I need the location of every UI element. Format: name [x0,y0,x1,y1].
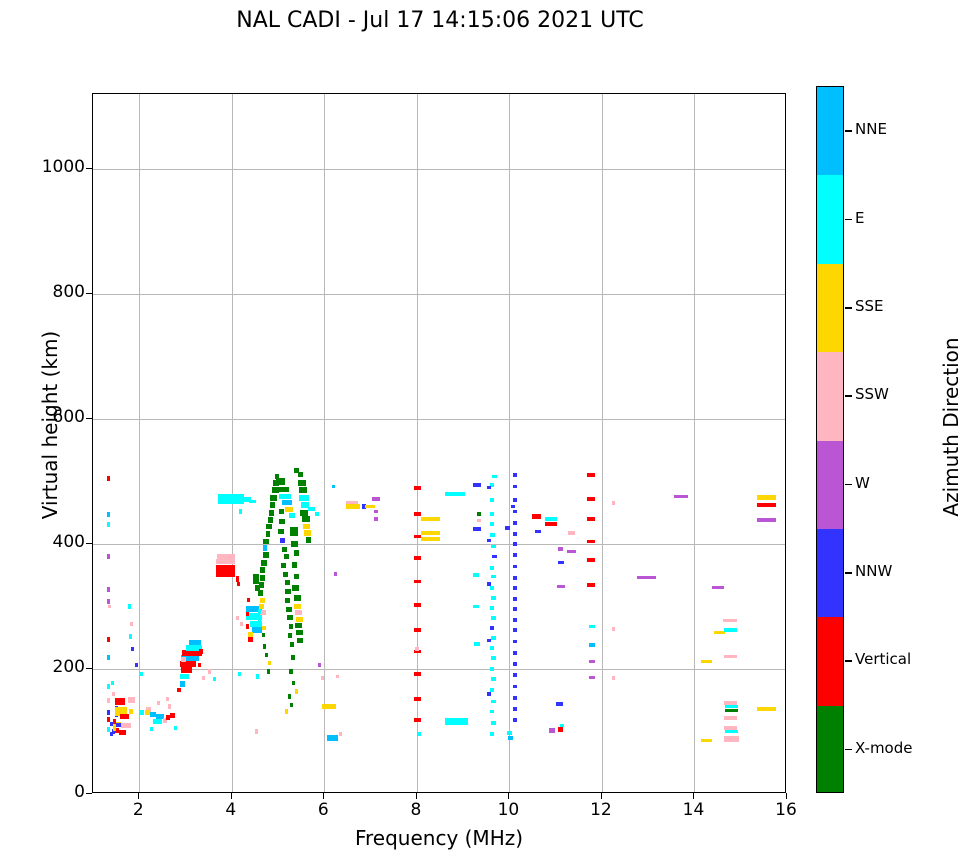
echo-point [490,646,495,650]
echo-point [490,606,495,610]
colorbar-label-nne: NNE [855,120,887,138]
echo-point [336,675,339,679]
echo-point [128,604,131,608]
gridline-vertical [232,94,233,792]
echo-point [278,529,284,534]
colorbar-tick-mark [845,749,852,751]
echo-point [558,561,564,564]
colorbar-tick-mark [845,572,852,574]
y-tick-mark [86,418,92,419]
echo-point [238,672,241,676]
echo-point [473,527,480,531]
echo-point [107,587,110,592]
echo-point [121,723,131,728]
y-tick-label: 0 [0,782,85,802]
echo-point [246,624,249,628]
echo-point [285,598,290,603]
echo-point [414,603,421,607]
echo-point [112,692,115,696]
echo-point [120,714,129,719]
echo-point [490,522,495,526]
echo-point [291,541,298,547]
echo-point [216,559,235,565]
echo-point [268,517,274,523]
x-tick-mark [693,793,694,799]
echo-point [414,556,421,560]
echo-point [302,516,310,522]
gridline-horizontal [93,294,785,295]
echo-point [256,674,259,678]
gridline-vertical [324,94,325,792]
echo-point [180,674,188,680]
echo-point [757,503,776,507]
echo-point [260,567,265,573]
colorbar-label-x-mode: X-mode [855,739,912,757]
echo-point [589,643,595,647]
echo-point [513,685,518,689]
echo-point [417,732,421,736]
x-tick-label: 14 [663,800,723,820]
echo-point [199,649,203,654]
gridline-horizontal [93,169,785,170]
x-tick-label: 12 [571,800,631,820]
echo-point [487,486,491,489]
echo-point [568,531,575,535]
echo-point [491,656,496,660]
echo-point [295,623,301,628]
echo-point [288,694,291,698]
echo-point [236,616,239,620]
colorbar-label-e: E [855,209,864,227]
x-tick-label: 16 [756,800,816,820]
echo-point [612,501,615,505]
echo-point [365,505,375,509]
echo-point [587,473,594,477]
echo-point [477,519,482,522]
echo-point [276,478,285,484]
echo-point [491,545,496,549]
echo-point [490,586,495,590]
gridline-vertical [694,94,695,792]
echo-point [216,571,235,577]
echo-point [725,709,739,712]
echo-point [135,663,138,667]
x-tick-label: 6 [293,800,353,820]
echo-point [487,582,491,585]
echo-point [282,500,292,505]
echo-point [308,507,314,511]
echo-point [263,539,269,545]
echo-point [263,545,268,551]
echo-point [724,655,738,658]
echo-point [589,625,595,628]
echo-point [202,676,205,680]
echo-point [170,713,175,718]
y-tick-mark [86,293,92,294]
echo-point [268,661,271,665]
echo-point [612,676,615,680]
echo-point [107,655,110,660]
y-tick-label: 200 [0,657,85,677]
echo-point [292,681,295,685]
echo-point [189,640,201,645]
echo-point [346,501,358,504]
echo-point [725,730,739,733]
colorbar-tick-mark [845,219,852,221]
echo-point [473,573,479,577]
colorbar-swatch-w[interactable] [817,441,843,529]
echo-point [285,709,288,713]
echo-point [513,565,518,569]
echo-point [111,681,114,685]
colorbar-swatch-e[interactable] [817,175,843,263]
echo-point [258,590,264,596]
echo-point [491,616,496,620]
echo-point [287,615,293,620]
echo-point [278,487,289,492]
echo-point [513,542,518,546]
echo-point [587,540,594,544]
echo-point [535,530,541,534]
echo-point [113,727,116,731]
echo-point [513,521,518,525]
echo-point [513,696,518,700]
echo-point [415,647,420,651]
colorbar-title: Azimuth Direction [939,247,958,607]
gridline-horizontal [93,669,785,670]
echo-point [414,718,421,722]
echo-point [558,727,563,732]
echo-point [128,697,134,703]
echo-point [270,495,276,501]
x-tick-mark [231,793,232,799]
echo-point [513,576,518,580]
echo-point [560,724,564,727]
echo-point [513,607,518,611]
echo-point [166,697,169,701]
colorbar-label-sse: SSE [855,297,884,315]
echo-point [248,637,253,642]
echo-point [637,576,656,579]
echo-point [294,595,300,601]
echo-point [285,507,293,512]
echo-point [491,596,496,600]
echo-point [297,638,303,643]
echo-point [300,510,308,516]
echo-point [216,565,235,571]
echo-point [108,605,111,609]
echo-point [490,512,495,516]
echo-point [237,582,240,586]
echo-point [492,555,497,559]
echo-point [107,637,110,642]
ionogram-figure: NAL CADI - Jul 17 14:15:06 2021 UTC 2468… [0,0,958,857]
x-tick-label: 4 [201,800,261,820]
echo-point [266,531,271,537]
x-axis-label: Frequency (MHz) [92,826,786,850]
echo-point [119,730,126,735]
echo-point [587,497,594,501]
echo-point [513,640,518,644]
echo-point [290,642,295,647]
echo-point [414,697,421,701]
echo-point [260,598,265,603]
echo-point [279,494,291,499]
echo-point [513,485,518,489]
gridline-vertical [509,94,510,792]
echo-point [240,622,243,626]
echo-point [421,531,440,535]
echo-point [110,722,113,726]
echo-point [217,554,235,558]
echo-point [724,736,739,743]
echo-point [270,502,276,508]
echo-point [491,677,496,681]
echo-point [181,667,193,673]
echo-point [262,633,265,637]
echo-point [286,607,292,612]
echo-point [292,562,298,568]
echo-point [474,642,480,646]
echo-point [473,605,479,609]
echo-point [757,495,776,500]
colorbar-tick-mark [845,395,852,397]
echo-point [110,732,113,736]
x-tick-mark [138,793,139,799]
echo-point [283,572,288,577]
echo-point [487,692,491,695]
colorbar[interactable] [816,86,844,793]
echo-point [414,535,421,539]
echo-point [262,626,266,630]
echo-point [295,689,298,693]
echo-point [473,483,480,487]
echo-point [414,672,421,676]
colorbar-swatch-sse[interactable] [817,264,843,352]
echo-point [587,517,594,521]
colorbar-swatch-x-mode[interactable] [817,706,843,793]
echo-point [291,655,295,660]
echo-point [513,586,518,590]
echo-point [296,630,302,635]
echo-point [247,598,250,602]
echo-point [558,547,564,550]
echo-point [115,698,125,704]
echo-point [255,585,260,591]
echo-point [414,580,421,584]
echo-point [150,727,153,731]
echo-point [292,585,298,591]
echo-point [723,619,737,622]
echo-point [612,627,615,631]
echo-point [701,660,712,663]
echo-point [556,702,563,705]
echo-point [757,518,776,522]
colorbar-tick-mark [845,484,852,486]
echo-point [414,486,421,490]
x-tick-label: 8 [386,800,446,820]
x-tick-label: 2 [108,800,168,820]
echo-point [545,522,557,526]
echo-point [107,512,110,517]
echo-point [304,530,310,536]
echo-point [725,705,739,708]
echo-point [315,512,320,516]
echo-point [129,709,134,714]
echo-point [265,653,268,657]
echo-point [513,662,518,666]
echo-point [299,487,307,493]
echo-point [281,563,287,568]
echo-point [513,498,518,502]
echo-point [131,647,134,651]
echo-point [513,718,518,722]
echo-point [130,622,133,626]
plot-area[interactable] [92,93,786,793]
echo-point [421,517,440,521]
echo-point [491,575,496,579]
echo-point [487,539,491,542]
echo-point [318,663,321,667]
echo-point [166,715,170,720]
echo-point [589,660,595,663]
echo-point [513,618,518,622]
echo-point [490,667,495,671]
echo-point [490,710,495,714]
gridline-horizontal [93,544,785,545]
echo-point [267,669,270,673]
echo-point [490,533,495,537]
echo-point [107,554,110,559]
echo-point [508,736,513,740]
x-tick-mark [601,793,602,799]
echo-point [334,572,337,576]
echo-point [712,586,724,589]
echo-point [140,672,143,676]
echo-point [490,498,495,502]
echo-point [266,524,272,530]
echo-point [294,550,300,556]
echo-point [724,716,738,720]
echo-point [513,532,518,536]
echo-point [107,476,110,481]
echo-point [587,558,594,562]
echo-point [545,517,557,521]
echo-point [285,580,291,585]
echo-point [284,554,289,559]
x-tick-label: 10 [478,800,538,820]
echo-point [198,663,201,667]
echo-point [239,509,242,513]
echo-point [372,497,379,500]
y-tick-mark [86,793,92,794]
echo-point [107,710,110,715]
colorbar-swatch-ssw[interactable] [817,352,843,440]
x-tick-mark [323,793,324,799]
echo-point [303,524,310,530]
echo-point [107,684,110,689]
echo-point [507,731,512,735]
echo-point [374,510,378,513]
colorbar-tick-mark [845,130,852,132]
echo-point [174,726,177,730]
echo-point [549,728,555,733]
y-tick-mark [86,168,92,169]
echo-canvas [93,94,785,792]
echo-point [513,473,518,477]
echo-point [181,657,186,663]
colorbar-label-nnw: NNW [855,562,892,580]
page-title: NAL CADI - Jul 17 14:15:06 2021 UTC [0,8,880,33]
echo-point [587,583,594,587]
colorbar-tick-mark [845,660,852,662]
colorbar-label-ssw: SSW [855,385,889,403]
echo-point [260,575,265,581]
gridline-vertical [417,94,418,792]
echo-point [490,566,495,570]
echo-point [306,537,312,543]
echo-point [724,628,737,632]
echo-point [505,526,510,530]
echo-point [346,504,360,508]
echo-point [327,735,338,741]
colorbar-swatch-nne[interactable] [817,87,843,175]
echo-point [589,676,595,679]
echo-point [279,509,284,514]
echo-point [490,732,495,736]
echo-point [139,710,145,715]
echo-point [107,522,110,527]
echo-point [258,609,262,614]
echo-point [557,585,565,589]
echo-point [296,617,302,622]
echo-point [492,475,497,479]
echo-point [513,707,518,711]
echo-point [701,739,712,742]
echo-point [180,681,186,687]
echo-point [289,513,295,518]
echo-point [253,574,259,584]
echo-point [511,505,515,508]
echo-point [295,610,302,615]
gridline-horizontal [93,419,785,420]
echo-point [279,519,285,524]
echo-point [513,673,518,677]
colorbar-swatch-nnw[interactable] [817,529,843,617]
echo-point [258,619,262,624]
echo-point [269,510,275,516]
echo-point [414,512,421,516]
echo-point [513,510,518,514]
echo-point [299,495,308,501]
echo-point [208,669,211,673]
echo-point [298,480,306,486]
echo-point [374,517,378,520]
echo-point [298,472,303,477]
echo-point [157,701,160,705]
echo-point [322,704,336,709]
echo-point [290,527,298,536]
echo-point [263,644,266,648]
echo-point [757,707,776,711]
echo-point [421,537,440,541]
echo-point [445,718,468,724]
echo-point [289,669,292,673]
echo-point [280,538,286,543]
echo-point [445,492,464,495]
colorbar-label-vertical: Vertical [855,650,911,668]
colorbar-swatch-vertical[interactable] [817,617,843,705]
